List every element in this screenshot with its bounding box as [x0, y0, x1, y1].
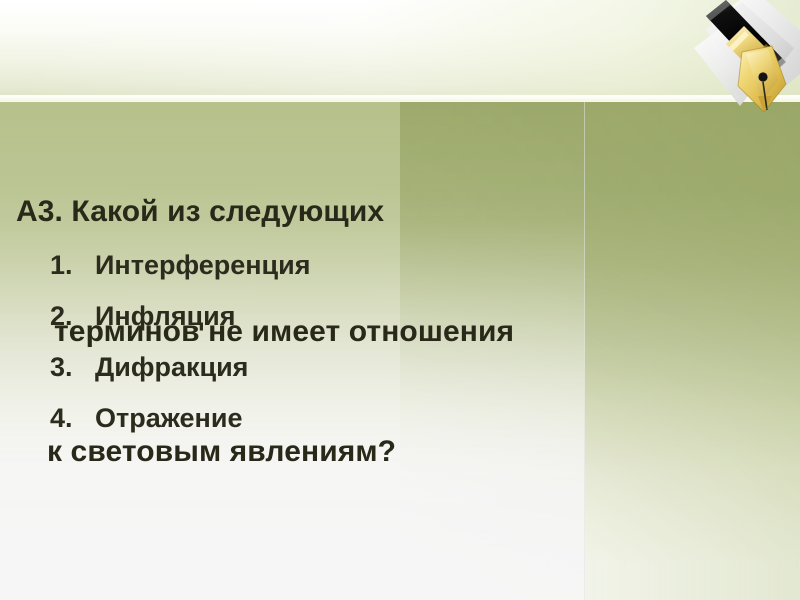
answer-option-4[interactable]: 4. Отражение	[50, 403, 570, 454]
question-line-1: A3. Какой из следующих	[16, 192, 616, 232]
answer-option-3[interactable]: 3. Дифракция	[50, 352, 570, 403]
answer-number-3: 3.	[50, 352, 95, 383]
answer-option-2[interactable]: 2. Инфляция	[50, 301, 570, 352]
answer-label-2: Инфляция	[95, 301, 236, 332]
answer-number-2: 2.	[50, 301, 95, 332]
slide-canvas: A3. Какой из следующих терминов не имеет…	[0, 0, 800, 600]
answer-label-1: Интерференция	[95, 250, 311, 281]
answer-option-1[interactable]: 1. Интерференция	[50, 250, 570, 301]
answer-number-4: 4.	[50, 403, 95, 434]
answer-list: 1. Интерференция 2. Инфляция 3. Дифракци…	[50, 250, 570, 454]
answer-label-4: Отражение	[95, 403, 242, 434]
fountain-pen-nib-icon	[668, 0, 800, 112]
answer-label-3: Дифракция	[95, 352, 248, 383]
answer-number-1: 1.	[50, 250, 95, 281]
